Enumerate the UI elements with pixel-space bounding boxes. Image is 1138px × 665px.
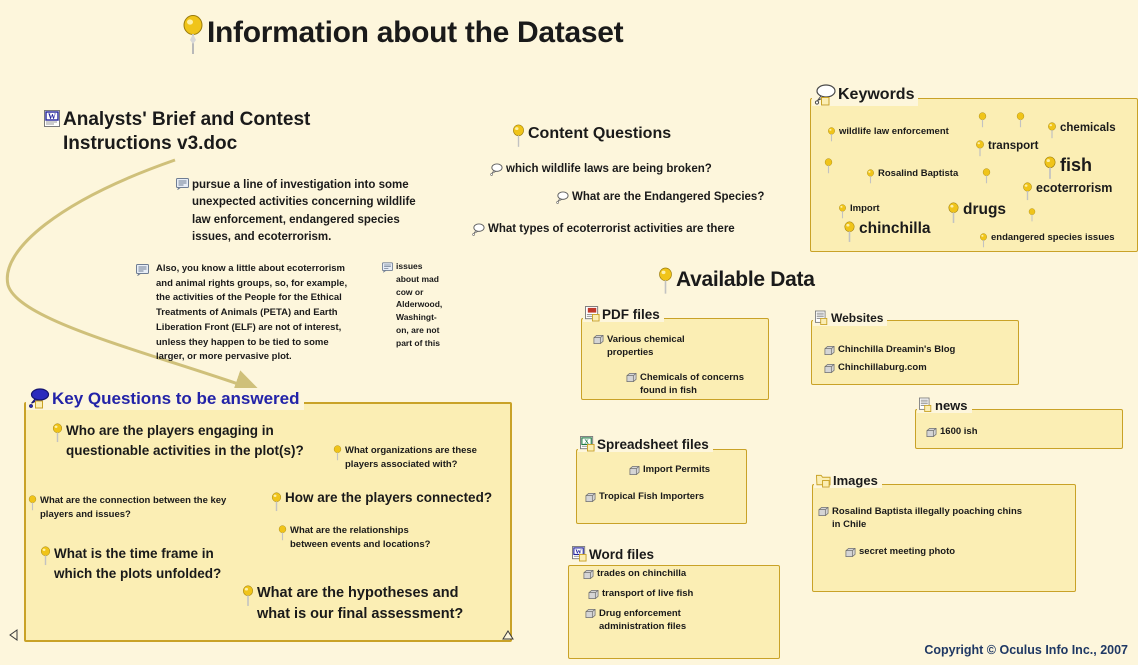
images-item-2[interactable]: secret meeting photo xyxy=(845,546,955,558)
content-question-2: What are the Endangered Species? xyxy=(556,190,764,204)
images-title: Images xyxy=(833,473,878,488)
news-item-1-text: 1600 ish xyxy=(940,426,978,438)
websites-item-2-text: Chinchillaburg.com xyxy=(838,362,927,374)
question-bubble-icon xyxy=(490,163,503,176)
note-icon xyxy=(382,262,393,273)
keyword-label: drugs xyxy=(963,200,1006,219)
pin-icon xyxy=(838,204,847,219)
brief-note-1-text: pursue a line of investigation into some… xyxy=(192,177,416,246)
images-panel xyxy=(812,484,1076,592)
pdf-item-2-text: Chemicals of concerns found in fish xyxy=(640,371,744,398)
key-question-1-text: Who are the players engaging in question… xyxy=(66,421,304,460)
cube-icon xyxy=(583,569,594,580)
brief-note-3-text: issues about mad cow or Alderwood, Washi… xyxy=(396,260,442,349)
analysts-brief-heading: W Analysts' Brief and Contest Instructio… xyxy=(44,108,310,156)
content-question-3-text: What types of ecoterrorist activities ar… xyxy=(488,222,735,236)
pin-icon xyxy=(28,495,37,511)
brief-note-3: issues about mad cow or Alderwood, Washi… xyxy=(382,260,444,349)
keyword-label: Rosalind Baptista xyxy=(878,168,958,180)
pin-icon xyxy=(1043,156,1057,180)
keyword-label: wildlife law enforcement xyxy=(839,126,949,138)
pin-icon xyxy=(271,492,282,512)
pin-icon xyxy=(333,445,342,461)
websites-title: Websites xyxy=(831,311,883,325)
word-files-title: Word files xyxy=(589,547,654,562)
content-question-1: which wildlife laws are being broken? xyxy=(490,162,712,176)
key-questions-title-block: Key Questions to be answered xyxy=(26,388,304,410)
pin-icon xyxy=(827,127,836,142)
word-item-1[interactable]: trades on chinchilla xyxy=(583,568,686,580)
folder-icon xyxy=(816,473,831,488)
cube-icon xyxy=(845,547,856,558)
brief-note-2: Also, you know a little about ecoterrori… xyxy=(136,262,386,365)
images-item-2-text: secret meeting photo xyxy=(859,546,955,558)
copyright-text: Copyright © Oculus Info Inc., 2007 xyxy=(924,643,1128,657)
spreadsheet-files-panel xyxy=(576,449,747,524)
key-questions-title: Key Questions to be answered xyxy=(52,389,300,409)
keyword-label: endangered species issues xyxy=(991,232,1115,244)
cube-icon xyxy=(626,372,637,383)
keyword-ecoterrorism[interactable]: ecoterrorism xyxy=(1022,181,1112,201)
keyword-label: fish xyxy=(1060,154,1092,177)
pin-icon xyxy=(182,14,204,56)
key-question-6-text: What is the time frame in which the plot… xyxy=(54,544,221,583)
pin-icon xyxy=(1022,182,1033,201)
keyword-label: ecoterrorism xyxy=(1036,181,1112,197)
content-question-3: What types of ecoterrorist activities ar… xyxy=(472,222,735,236)
question-bubble-icon xyxy=(556,191,569,204)
pdf-item-1[interactable]: Various chemical properties xyxy=(593,333,685,360)
content-questions-title: Content Questions xyxy=(528,124,671,144)
keyword-chinchilla[interactable]: chinchilla xyxy=(843,219,931,243)
collapse-left-handle[interactable] xyxy=(8,628,20,646)
word-item-3-text: Drug enforcement administration files xyxy=(599,607,686,634)
images-title-block: Images xyxy=(814,473,882,488)
spreadsheet-item-1-text: Import Permits xyxy=(643,464,710,476)
spreadsheet-item-1[interactable]: Import Permits xyxy=(629,464,710,476)
brief-note-1: pursue a line of investigation into some… xyxy=(176,177,416,246)
websites-title-block: Websites xyxy=(813,310,887,326)
spreadsheet-files-title: Spreadsheet files xyxy=(597,437,709,452)
pdf-files-title: PDF files xyxy=(602,307,660,322)
cube-icon xyxy=(818,506,829,517)
keywords-title: Keywords xyxy=(838,86,914,104)
key-question-5-text: What are the relationships between event… xyxy=(290,524,430,553)
content-question-1-text: which wildlife laws are being broken? xyxy=(506,162,712,176)
pin-icon xyxy=(278,525,287,541)
available-data-heading: Available Data xyxy=(658,267,815,295)
content-questions-heading: Content Questions xyxy=(512,124,671,148)
pin-icon xyxy=(512,124,525,148)
news-title-block: news xyxy=(917,397,972,413)
content-question-2-text: What are the Endangered Species? xyxy=(572,190,764,204)
keyword-endangered-species-issues[interactable]: endangered species issues xyxy=(979,232,1115,248)
pdf-files-title-block: PDF files xyxy=(583,306,664,322)
key-question-7-text: What are the hypotheses and what is our … xyxy=(257,583,463,625)
spreadsheet-item-2[interactable]: Tropical Fish Importers xyxy=(585,491,704,503)
pin-icon xyxy=(52,423,63,443)
pin-icon xyxy=(947,202,960,224)
websites-item-2[interactable]: Chinchillaburg.com xyxy=(824,362,927,374)
svg-text:W: W xyxy=(48,112,56,121)
pin-icon xyxy=(1028,208,1036,227)
spreadsheet-item-2-text: Tropical Fish Importers xyxy=(599,491,704,503)
word-doc-icon: W xyxy=(44,110,60,127)
key-question-7[interactable]: What are the hypotheses and what is our … xyxy=(242,583,463,625)
keyword-import[interactable]: Import xyxy=(838,203,880,219)
pdf-item-2[interactable]: Chemicals of concerns found in fish xyxy=(626,371,744,398)
resize-handle[interactable] xyxy=(502,628,514,646)
excel-icon: X xyxy=(580,436,595,452)
keyword-label: chemicals xyxy=(1060,121,1116,135)
pin-icon xyxy=(978,112,987,133)
pin-icon xyxy=(982,168,991,189)
cube-icon xyxy=(629,465,640,476)
comment-bubble-icon xyxy=(28,388,50,410)
cube-icon xyxy=(585,492,596,503)
word-item-3[interactable]: Drug enforcement administration files xyxy=(585,607,686,634)
keyword-label: transport xyxy=(988,139,1038,153)
note-icon xyxy=(136,264,149,276)
images-item-1-text: Rosalind Baptista illegally poaching chi… xyxy=(832,505,1022,532)
page-title: Information about the Dataset xyxy=(207,14,623,52)
cube-icon xyxy=(588,589,599,600)
keyword-fish[interactable]: fish xyxy=(1043,154,1092,180)
keyword-rosalind-baptista[interactable]: Rosalind Baptista xyxy=(866,168,958,184)
key-question-6[interactable]: What is the time frame in which the plot… xyxy=(40,544,221,583)
pin-icon xyxy=(40,546,51,566)
pin-icon xyxy=(242,585,254,607)
pdf-icon xyxy=(585,306,600,322)
pin-icon xyxy=(975,140,985,157)
page-title-block: Information about the Dataset xyxy=(182,14,623,56)
key-question-3-text: What are the connection between the key … xyxy=(40,494,226,523)
keywords-panel-title-block: Keywords xyxy=(812,84,918,106)
question-bubble-icon xyxy=(472,223,485,236)
key-question-5[interactable]: What are the relationships between event… xyxy=(278,524,430,553)
key-question-3[interactable]: What are the connection between the key … xyxy=(28,494,226,523)
word-files-title-block: W Word files xyxy=(570,546,658,562)
word-item-2[interactable]: transport of live fish xyxy=(588,588,693,600)
images-item-1[interactable]: Rosalind Baptista illegally poaching chi… xyxy=(818,505,1022,532)
word-item-2-text: transport of live fish xyxy=(602,588,693,600)
pin-icon xyxy=(843,221,856,243)
comment-bubble-icon xyxy=(814,84,836,106)
keyword-transport[interactable]: transport xyxy=(975,139,1038,157)
word-doc-icon: W xyxy=(572,546,587,562)
brief-note-2-text: Also, you know a little about ecoterrori… xyxy=(152,262,347,365)
cube-icon xyxy=(926,427,937,438)
cube-icon xyxy=(824,345,835,356)
note-icon xyxy=(176,178,189,190)
pin-icon xyxy=(979,233,988,248)
pin-icon xyxy=(658,267,673,295)
pdf-item-1-text: Various chemical properties xyxy=(607,333,685,360)
pin-icon xyxy=(824,158,833,179)
key-question-1[interactable]: Who are the players engaging in question… xyxy=(52,421,304,460)
websites-item-1-text: Chinchilla Dreamin's Blog xyxy=(838,344,955,356)
key-question-2-text: What organizations are these players ass… xyxy=(345,444,477,473)
word-item-1-text: trades on chinchilla xyxy=(597,568,686,580)
pin-icon xyxy=(1016,112,1025,133)
key-question-4[interactable]: How are the players connected? xyxy=(271,490,492,512)
news-title: news xyxy=(935,398,968,413)
pin-icon xyxy=(1047,122,1057,139)
keyword-label: Import xyxy=(850,203,880,215)
page-icon xyxy=(815,310,829,326)
news-item-1[interactable]: 1600 ish xyxy=(926,426,978,438)
spreadsheet-files-title-block: X Spreadsheet files xyxy=(578,436,713,452)
keyword-drugs[interactable]: drugs xyxy=(947,200,1006,224)
cube-icon xyxy=(593,334,604,345)
keyword-label: chinchilla xyxy=(859,219,931,238)
available-data-title: Available Data xyxy=(676,267,815,293)
key-question-2[interactable]: What organizations are these players ass… xyxy=(333,444,477,473)
keyword-wildlife-law-enforcement[interactable]: wildlife law enforcement xyxy=(827,126,949,142)
cube-icon xyxy=(585,608,596,619)
pin-icon xyxy=(866,169,875,184)
key-question-4-text: How are the players connected? xyxy=(285,490,492,507)
cube-icon xyxy=(824,363,835,374)
keyword-chemicals[interactable]: chemicals xyxy=(1047,121,1116,139)
analysts-brief-title: Analysts' Brief and Contest Instructions… xyxy=(63,108,310,156)
websites-item-1[interactable]: Chinchilla Dreamin's Blog xyxy=(824,344,955,356)
page-icon xyxy=(919,397,933,413)
